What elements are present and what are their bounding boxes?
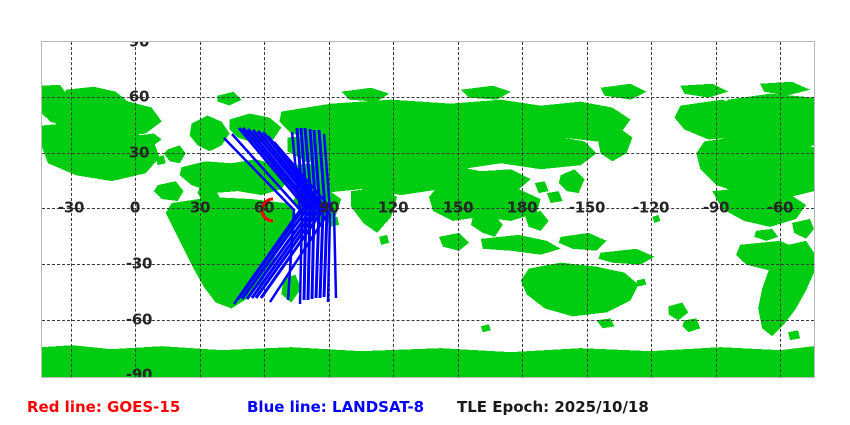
land-polygons [42,82,814,377]
lon-tick-30: 30 [190,201,210,216]
lat-tick--90: -90 [126,368,152,379]
lon-tick-120: 120 [378,201,408,216]
lon-tick-180: 180 [507,201,537,216]
lat-tick-90: 90 [129,41,149,50]
legend-blue-line-landsat8: Blue line: LANDSAT-8 [247,394,424,420]
world-map-plot: -30 0 30 60 90 120 150 180 -150 -120 -90… [41,41,815,378]
lon-tick--60: -60 [767,201,793,216]
lon-tick--30: -30 [58,201,84,216]
lat-tick-30: 30 [129,146,149,161]
legend-tle-epoch: TLE Epoch: 2025/10/18 [457,394,649,420]
lat-tick--30: -30 [126,257,152,272]
lon-tick-90: 90 [319,201,339,216]
lat-tick-0: 0 [130,201,140,216]
lon-tick--90: -90 [703,201,729,216]
lon-tick--120: -120 [633,201,669,216]
lat-tick-60: 60 [129,90,149,105]
lon-tick-150: 150 [443,201,473,216]
lon-tick-60: 60 [254,201,274,216]
lon-tick--150: -150 [569,201,605,216]
legend-red-line-goes15: Red line: GOES-15 [27,394,180,420]
lat-tick--60: -60 [126,313,152,328]
world-map-landmasses [42,42,814,377]
chart-legend-caption: Red line: GOES-15 Blue line: LANDSAT-8 T… [0,394,850,420]
